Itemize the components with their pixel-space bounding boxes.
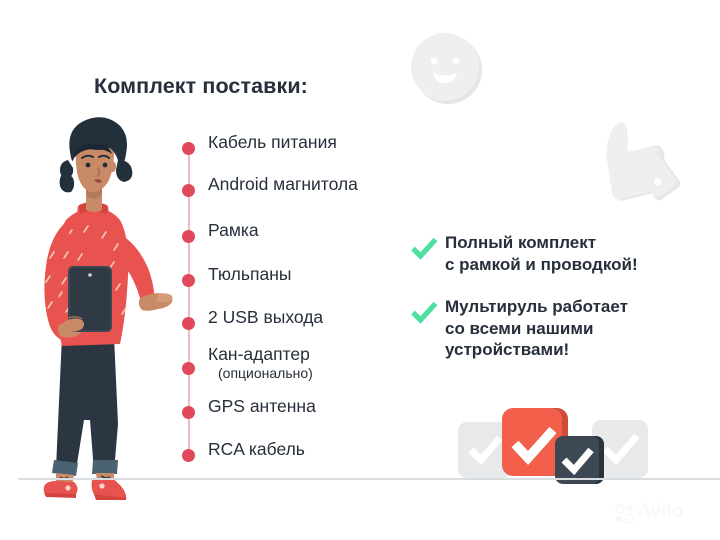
benefit-line: с рамкой и проводкой! <box>445 254 638 276</box>
benefit-line: Полный комплект <box>445 232 638 254</box>
avito-watermark-text: Avito <box>638 501 683 523</box>
benefit-text: Полный комплект с рамкой и проводкой! <box>445 232 638 275</box>
thumbs-up-icon <box>578 112 680 212</box>
avito-watermark: Avito <box>614 500 706 526</box>
woman-with-tablet-illustration <box>6 108 186 500</box>
list-item-label: Тюльпаны <box>208 263 291 285</box>
list-item-label: RCA кабель <box>208 438 305 460</box>
benefit-line: устройствами! <box>445 339 628 361</box>
list-item-sublabel: (опционально) <box>218 364 313 383</box>
benefit-line: со всеми нашими <box>445 318 628 340</box>
checkbox-card-dark <box>555 436 604 484</box>
product-package-infographic: Комплект поставки: Кабель питания Androi… <box>0 0 720 540</box>
list-item-label: Android магнитола <box>208 173 358 195</box>
ground-line <box>18 478 720 480</box>
list-item-label: Рамка <box>208 219 259 241</box>
benefit-text: Мультируль работает со всеми нашими устр… <box>445 296 628 361</box>
benefit-line: Мультируль работает <box>445 296 628 318</box>
green-check-icon <box>410 236 438 262</box>
list-item-label: Кабель питания <box>208 131 337 153</box>
avito-logo-icon <box>614 503 636 525</box>
package-contents-list: Кабель питания Android магнитола Рамка Т… <box>174 128 424 468</box>
green-check-icon <box>410 300 438 326</box>
list-item-label: Кан-адаптер <box>208 343 310 365</box>
list-item-label: 2 USB выхода <box>208 306 323 328</box>
smiley-face-icon <box>408 30 486 108</box>
list-item-label: GPS антенна <box>208 395 316 417</box>
page-title: Комплект поставки: <box>94 74 308 99</box>
